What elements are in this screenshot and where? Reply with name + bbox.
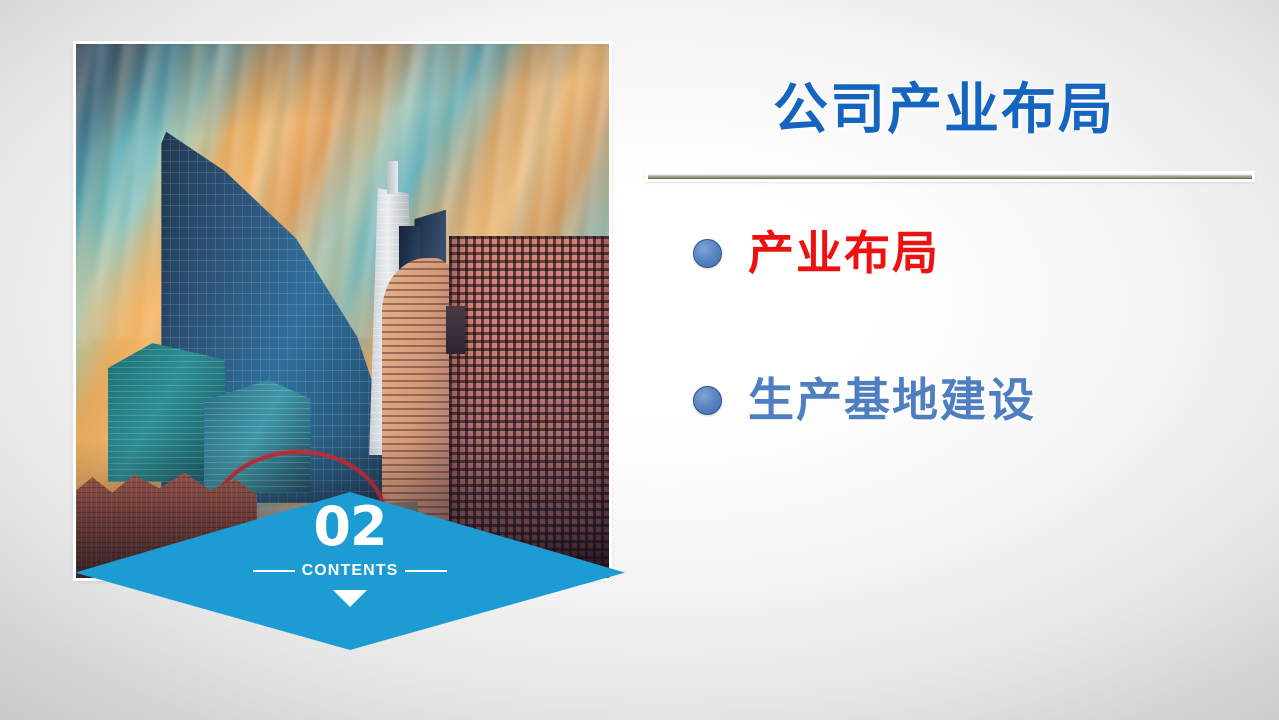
bullet-list: 产业布局 生产基地建设 [645,228,1265,425]
list-item[interactable]: 产业布局 [693,228,1265,279]
bullet-dot-icon [693,239,722,268]
bullet-dot-icon [693,386,722,415]
slide-content-column: 公司产业布局 产业布局 生产基地建设 [645,60,1265,680]
title-divider [645,171,1255,182]
building-notch-shape [446,306,464,354]
bullet-label-2: 生产基地建设 [748,375,1036,426]
list-item[interactable]: 生产基地建设 [693,375,1265,426]
presentation-slide: 02 CONTENTS 公司产业布局 产业布局 生产基地建设 [0,0,1279,720]
page-title: 公司产业布局 [645,78,1243,141]
bullet-label-1: 产业布局 [748,228,940,279]
silver-tower-spire-shape [387,161,399,193]
